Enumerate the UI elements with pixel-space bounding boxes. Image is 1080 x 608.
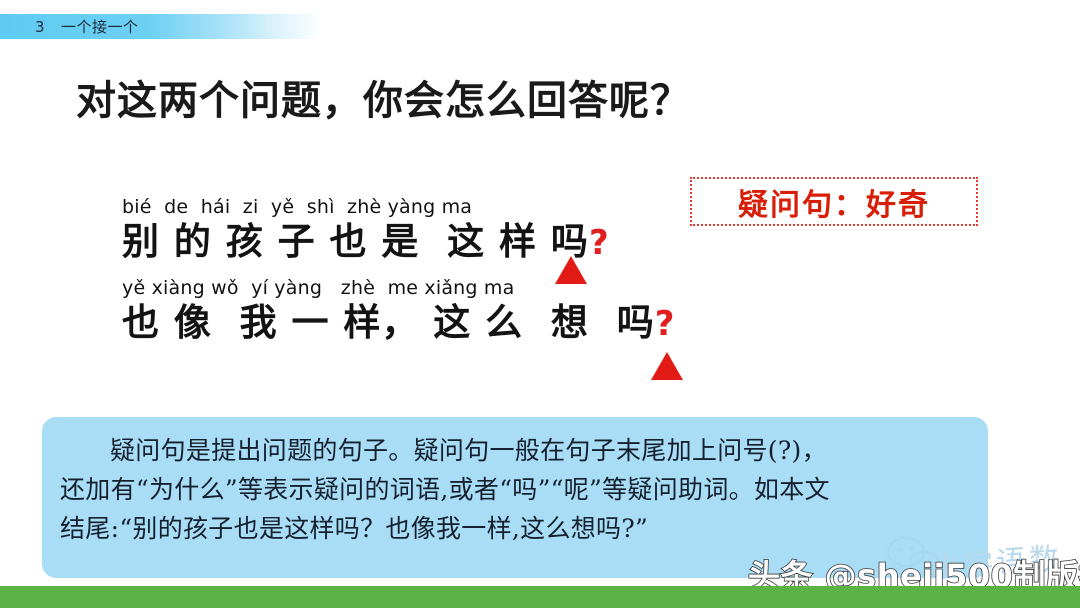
question-mark-1: ?: [589, 223, 610, 263]
red-triangle-marker-2: [651, 352, 683, 380]
callout-box: 疑问句：好奇: [690, 177, 978, 226]
callout-label: 疑问句：好奇: [738, 180, 930, 224]
question-mark-2: ?: [655, 304, 676, 344]
explanation-line-2: 还加有“为什么”等表示疑问的词语,或者“吗”“呢”等疑问助词。如本文: [60, 470, 970, 509]
explanation-line-3: 结尾:“别的孩子也是这样吗？也像我一样,这么想吗?”: [60, 509, 970, 548]
pinyin-line-2: yě xiàng wǒ yí yàng zhè me xiǎng ma: [122, 277, 675, 301]
sentence-group-1: bié de hái zi yě shì zhè yàng ma 别 的 孩 子…: [122, 196, 675, 263]
page-title: 对这两个问题，你会怎么回答呢？: [76, 68, 691, 126]
explanation-line-1: 疑问句是提出问题的句子。疑问句一般在句子末尾加上问号(?)，: [60, 431, 970, 470]
hanzi-line-2: 也 像 我 一 样， 这 么 想 吗?: [122, 301, 675, 345]
sentence-block: bié de hái zi yě shì zhè yàng ma 别 的 孩 子…: [122, 196, 675, 345]
lesson-title: 一个接一个: [61, 18, 139, 36]
hanzi-line-1: 别 的 孩 子 也 是 这 样 吗?: [122, 220, 675, 264]
lesson-number: 3: [35, 18, 45, 36]
breadcrumb: 3一个接一个: [35, 16, 139, 37]
hanzi-text-2: 也 像 我 一 样， 这 么 想 吗: [122, 300, 655, 344]
sentence-group-2: yě xiàng wǒ yí yàng zhè me xiǎng ma 也 像 …: [122, 277, 675, 344]
pinyin-line-1: bié de hái zi yě shì zhè yàng ma: [122, 196, 675, 220]
footer-bar: [0, 586, 1080, 608]
hanzi-text-1: 别 的 孩 子 也 是 这 样 吗: [122, 219, 589, 263]
explanation-box: 疑问句是提出问题的句子。疑问句一般在句子末尾加上问号(?)， 还加有“为什么”等…: [42, 417, 988, 578]
